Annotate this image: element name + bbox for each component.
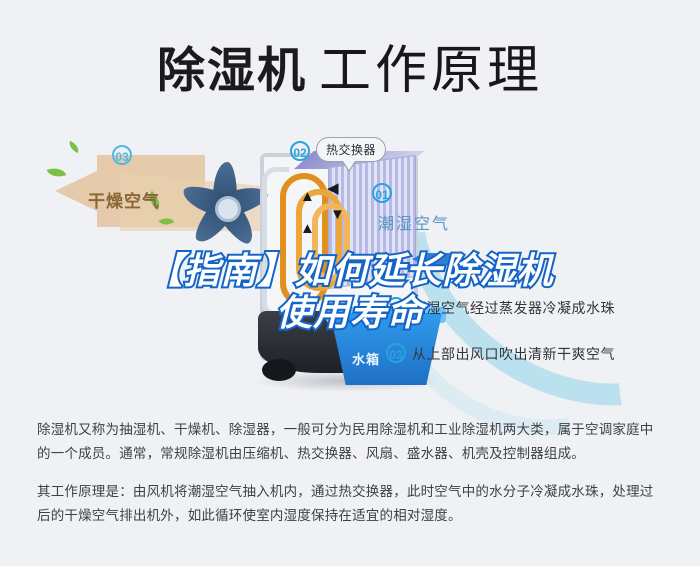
- machine-wheel-icon: [262, 359, 296, 381]
- callout-badge-01: 01: [372, 183, 392, 203]
- step-badge-03: 03: [386, 343, 406, 363]
- flow-arrow-left-icon: ◀: [327, 181, 339, 196]
- flow-arrow-up-icon: ▲: [300, 221, 315, 236]
- callout-dry-air: 03: [112, 145, 132, 165]
- callout-badge-02: 02: [290, 141, 310, 161]
- flow-arrow-up-icon: ▲: [300, 189, 315, 204]
- flow-arrow-up-icon: ▲: [300, 253, 315, 268]
- diagram-illustration: ▲ ▲ ▲ ▼ ◀ 水箱 03 干燥空气 02 热交换器 01 潮湿空气 02 …: [0, 115, 700, 405]
- article-paragraph-2: 其工作原理是：由风机将潮湿空气抽入机内，通过热交换器，此时空气中的水分子冷凝成水…: [37, 480, 667, 528]
- callout-badge-03: 03: [112, 145, 132, 165]
- infographic-page: 除湿机工作原理 ▲ ▲ ▲: [0, 0, 700, 566]
- step-badge-02: 02: [386, 297, 406, 317]
- fan-icon: [182, 163, 268, 249]
- leaf-icon: [67, 141, 81, 153]
- callout-dry-air-label: 干燥空气: [88, 187, 160, 212]
- step-02-badge-wrap: 02: [386, 297, 406, 317]
- article-body: 除湿机又称为抽湿机、干燥机、除湿器，一般可分为民用除湿机和工业除湿机两大类，属于…: [37, 418, 667, 528]
- callout-humid-air-label: 潮湿空气: [378, 210, 450, 234]
- page-title-primary: 除湿机: [157, 45, 307, 98]
- leaf-icon: [47, 165, 67, 181]
- step-03-text: 从上部出风口吹出清新干爽空气: [412, 344, 615, 364]
- flow-arrow-down-icon: ▼: [330, 207, 345, 222]
- callout-humid-air: 01: [372, 183, 392, 203]
- step-02-text: 潮湿空气经过蒸发器冷凝成水珠: [412, 298, 615, 318]
- callout-heat-exchanger: 02: [290, 141, 310, 161]
- callout-heat-exchanger-label: 热交换器: [316, 137, 386, 162]
- water-tank-label: 水箱: [352, 349, 380, 368]
- step-03-badge-wrap: 03: [386, 343, 406, 363]
- article-paragraph-1: 除湿机又称为抽湿机、干燥机、除湿器，一般可分为民用除湿机和工业除湿机两大类，属于…: [37, 418, 667, 466]
